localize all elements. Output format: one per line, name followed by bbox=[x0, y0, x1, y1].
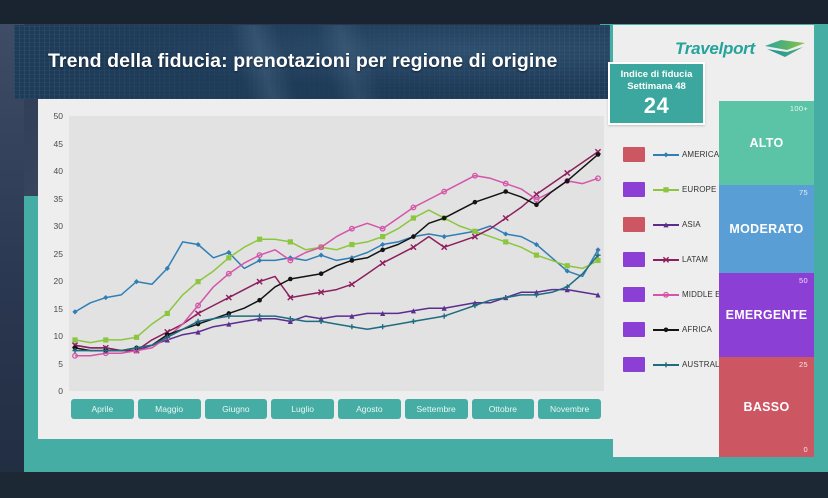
legend-zone-swatch bbox=[623, 357, 645, 372]
legend-zone-swatch bbox=[623, 182, 645, 197]
scale-band-label: EMERGENTE bbox=[726, 308, 808, 322]
y-axis-tick: 50 bbox=[54, 111, 63, 121]
scale-band-label: BASSO bbox=[744, 400, 790, 414]
legend-line-sample bbox=[653, 324, 679, 335]
legend-zone-swatch bbox=[623, 287, 645, 302]
month-chip-novembre[interactable]: Novembre bbox=[538, 399, 601, 419]
legend-label: EUROPE bbox=[682, 185, 716, 194]
y-axis-tick: 30 bbox=[54, 221, 63, 231]
y-axis-tick: 40 bbox=[54, 166, 63, 176]
confidence-scale: 100+ALTO75MODERATO50EMERGENTE25BASSO0 bbox=[719, 101, 814, 457]
travelport-logo: Travelport bbox=[675, 36, 805, 62]
scale-top-value: 100+ bbox=[790, 104, 808, 113]
legend-label: ASIA bbox=[682, 220, 701, 229]
scale-band-emergente: 50EMERGENTE bbox=[719, 273, 814, 357]
y-axis-tick: 5 bbox=[58, 359, 63, 369]
series-africa bbox=[73, 152, 601, 353]
scale-top-value: 25 bbox=[799, 360, 808, 369]
page-title: Trend della fiducia: prenotazioni per re… bbox=[48, 50, 557, 73]
legend-line-sample bbox=[653, 219, 679, 230]
scale-top-value: 50 bbox=[799, 276, 808, 285]
scale-top-value: 75 bbox=[799, 188, 808, 197]
scale-band-alto: 100+ALTO bbox=[719, 101, 814, 185]
line-chart-svg bbox=[69, 116, 604, 391]
month-chip-luglio[interactable]: Luglio bbox=[271, 399, 334, 419]
brand-name: Travelport bbox=[675, 39, 755, 59]
legend-zone-swatch bbox=[623, 252, 645, 267]
y-axis-tick: 45 bbox=[54, 139, 63, 149]
series-americas bbox=[72, 226, 600, 314]
legend-zone-swatch bbox=[623, 217, 645, 232]
legend-label: AFRICA bbox=[682, 325, 712, 334]
scale-band-moderato: 75MODERATO bbox=[719, 185, 814, 273]
legend-line-sample bbox=[653, 359, 679, 370]
month-chip-ottobre[interactable]: Ottobre bbox=[472, 399, 535, 419]
legend-zone-swatch bbox=[623, 147, 645, 162]
series-australasia bbox=[72, 253, 600, 354]
legend-label: LATAM bbox=[682, 255, 708, 264]
scale-band-basso: 25BASSO0 bbox=[719, 357, 814, 457]
y-axis-tick: 35 bbox=[54, 194, 63, 204]
legend-line-sample bbox=[653, 149, 679, 160]
series-latam bbox=[72, 149, 600, 353]
travelport-diamond-icon bbox=[765, 40, 805, 57]
y-axis-labels: 05101520253035404550 bbox=[38, 112, 66, 395]
scale-band-label: ALTO bbox=[749, 136, 783, 150]
y-axis-tick: 20 bbox=[54, 276, 63, 286]
chart-panel: 05101520253035404550 AprileMaggioGiugnoL… bbox=[38, 99, 613, 439]
series-europe bbox=[72, 210, 600, 343]
month-chip-giugno[interactable]: Giugno bbox=[205, 399, 268, 419]
y-axis-tick: 15 bbox=[54, 304, 63, 314]
legend-line-sample bbox=[653, 254, 679, 265]
y-axis-tick: 25 bbox=[54, 249, 63, 259]
scale-band-label: MODERATO bbox=[729, 222, 803, 236]
bottom-bar bbox=[0, 472, 828, 498]
y-axis-tick: 0 bbox=[58, 386, 63, 396]
month-chip-agosto[interactable]: Agosto bbox=[338, 399, 401, 419]
legend-line-sample bbox=[653, 289, 679, 300]
plot-area bbox=[69, 116, 604, 391]
x-axis-month-chips: AprileMaggioGiugnoLuglioAgostoSettembreO… bbox=[71, 399, 601, 419]
y-axis-tick: 10 bbox=[54, 331, 63, 341]
index-week: Settimana 48 bbox=[610, 81, 703, 92]
slide-stage: Trend della fiducia: prenotazioni per re… bbox=[0, 0, 828, 498]
month-chip-aprile[interactable]: Aprile bbox=[71, 399, 134, 419]
confidence-index-card: Indice di fiducia Settimana 48 24 bbox=[608, 62, 705, 125]
index-value: 24 bbox=[610, 93, 703, 119]
series-asia bbox=[72, 287, 600, 353]
top-bar bbox=[0, 0, 828, 24]
legend-zone-swatch bbox=[623, 322, 645, 337]
month-chip-maggio[interactable]: Maggio bbox=[138, 399, 201, 419]
legend-line-sample bbox=[653, 184, 679, 195]
scale-bottom-value: 0 bbox=[804, 445, 808, 454]
index-title: Indice di fiducia bbox=[610, 69, 703, 80]
month-chip-settembre[interactable]: Settembre bbox=[405, 399, 468, 419]
